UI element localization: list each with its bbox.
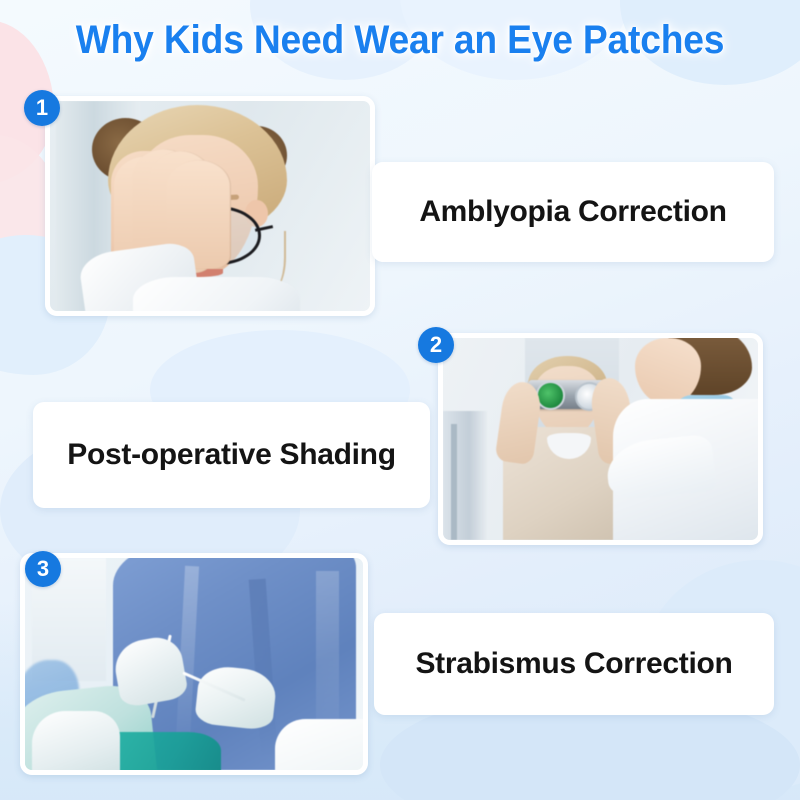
step-image-3 (20, 553, 368, 775)
step-label-2: Post-operative Shading (33, 438, 430, 472)
photo3-assistant-hand (32, 711, 120, 775)
photo-scene-amblyopia (50, 101, 370, 311)
step-label-card-1: Amblyopia Correction (372, 162, 774, 262)
step-image-1 (45, 96, 375, 316)
step-badge-3: 3 (25, 551, 61, 587)
step-badge-1: 1 (24, 90, 60, 126)
photo2-trial-lens-green (536, 381, 565, 409)
infographic-page: Why Kids Need Wear an Eye Patches 1 Ambl… (0, 0, 800, 800)
photo1-shirt (133, 277, 299, 315)
step-image-2 (438, 333, 763, 545)
photo3-white-sheet (275, 719, 368, 775)
page-title: Why Kids Need Wear an Eye Patches (28, 18, 772, 63)
step-label-card-3: Strabismus Correction (374, 613, 774, 715)
photo-scene-surgery (25, 558, 363, 770)
photo2-eye-exam-device (443, 411, 487, 540)
photo-scene-optometrist (443, 338, 758, 540)
step-label-1: Amblyopia Correction (372, 195, 774, 229)
step-label-card-2: Post-operative Shading (33, 402, 430, 508)
step-label-3: Strabismus Correction (374, 647, 774, 681)
step-badge-2: 2 (418, 327, 454, 363)
